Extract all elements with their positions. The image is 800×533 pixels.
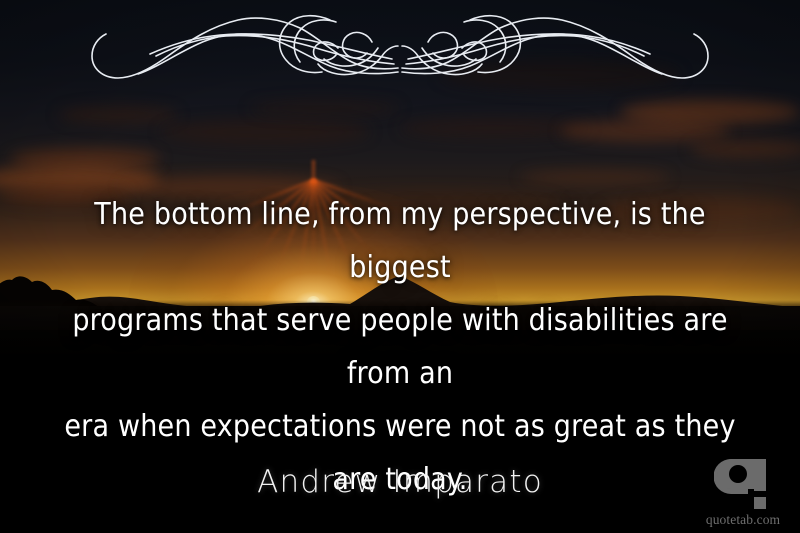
filigree-flourish-icon	[80, 12, 720, 84]
brand-watermark[interactable]: quotetab.com	[698, 456, 788, 528]
quote-text: The bottom line, from my perspective, is…	[48, 188, 752, 506]
brand-label: quotetab.com	[698, 512, 788, 528]
card-content: The bottom line, from my perspective, is…	[0, 0, 800, 533]
quote-card: The bottom line, from my perspective, is…	[0, 0, 800, 533]
quotetab-q-logo-icon	[714, 456, 772, 511]
quote-author: Andrew Imparato	[0, 464, 800, 500]
